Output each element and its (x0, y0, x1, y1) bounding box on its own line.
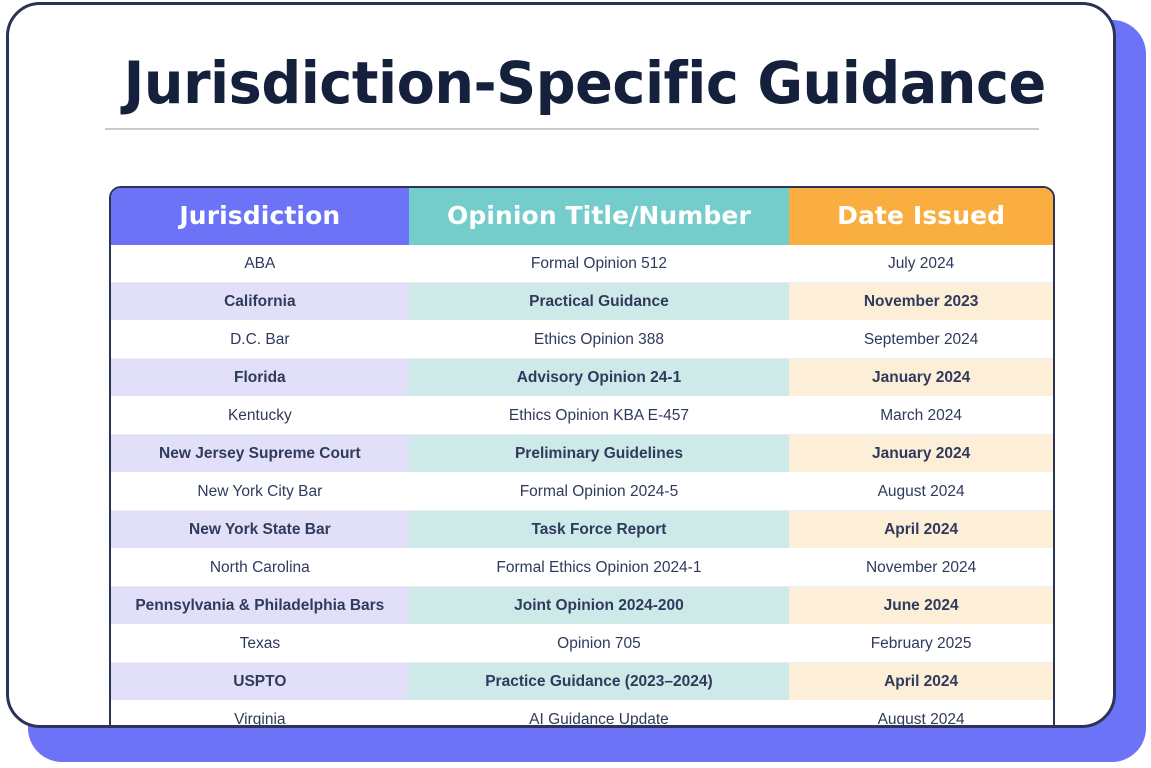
cell-opinion: Practical Guidance (409, 283, 790, 321)
cell-opinion: Formal Opinion 2024-5 (409, 473, 790, 511)
cell-jurisdiction: California (111, 283, 409, 321)
cell-jurisdiction: North Carolina (111, 549, 409, 587)
cell-opinion: Advisory Opinion 24-1 (409, 359, 790, 397)
table-row: USPTOPractice Guidance (2023–2024)April … (111, 663, 1053, 701)
table-row: VirginiaAI Guidance UpdateAugust 2024 (111, 701, 1053, 729)
cell-date: April 2024 (789, 663, 1053, 701)
table-row: New York State BarTask Force ReportApril… (111, 511, 1053, 549)
table-row: New Jersey Supreme CourtPreliminary Guid… (111, 435, 1053, 473)
cell-date: January 2024 (789, 359, 1053, 397)
cell-jurisdiction: Texas (111, 625, 409, 663)
cell-date: August 2024 (789, 701, 1053, 729)
table-header-row: Jurisdiction Opinion Title/Number Date I… (111, 188, 1053, 245)
cell-date: February 2025 (789, 625, 1053, 663)
slide-canvas: Jurisdiction-Specific Guidance Jurisdict… (0, 0, 1151, 768)
cell-jurisdiction: Pennsylvania & Philadelphia Bars (111, 587, 409, 625)
column-header-jurisdiction: Jurisdiction (111, 188, 409, 245)
cell-opinion: AI Guidance Update (409, 701, 790, 729)
cell-jurisdiction: New York State Bar (111, 511, 409, 549)
cell-jurisdiction: USPTO (111, 663, 409, 701)
title-divider (105, 128, 1039, 130)
cell-date: July 2024 (789, 245, 1053, 283)
table-row: D.C. BarEthics Opinion 388September 2024 (111, 321, 1053, 359)
table-row: TexasOpinion 705February 2025 (111, 625, 1053, 663)
cell-jurisdiction: New Jersey Supreme Court (111, 435, 409, 473)
cell-date: September 2024 (789, 321, 1053, 359)
cell-jurisdiction: New York City Bar (111, 473, 409, 511)
cell-opinion: Ethics Opinion KBA E-457 (409, 397, 790, 435)
column-header-opinion: Opinion Title/Number (409, 188, 790, 245)
cell-opinion: Task Force Report (409, 511, 790, 549)
cell-date: August 2024 (789, 473, 1053, 511)
table-row: New York City BarFormal Opinion 2024-5Au… (111, 473, 1053, 511)
content-card: Jurisdiction-Specific Guidance Jurisdict… (6, 2, 1116, 728)
cell-opinion: Practice Guidance (2023–2024) (409, 663, 790, 701)
cell-opinion: Formal Ethics Opinion 2024-1 (409, 549, 790, 587)
title-block: Jurisdiction-Specific Guidance (105, 53, 1039, 130)
guidance-table-container: Jurisdiction Opinion Title/Number Date I… (109, 186, 1055, 728)
cell-jurisdiction: Kentucky (111, 397, 409, 435)
cell-opinion: Preliminary Guidelines (409, 435, 790, 473)
table-body: ABAFormal Opinion 512July 2024California… (111, 245, 1053, 728)
cell-date: June 2024 (789, 587, 1053, 625)
column-header-date: Date Issued (789, 188, 1053, 245)
table-row: North CarolinaFormal Ethics Opinion 2024… (111, 549, 1053, 587)
cell-opinion: Opinion 705 (409, 625, 790, 663)
cell-opinion: Formal Opinion 512 (409, 245, 790, 283)
cell-jurisdiction: Florida (111, 359, 409, 397)
cell-date: January 2024 (789, 435, 1053, 473)
cell-date: November 2024 (789, 549, 1053, 587)
cell-jurisdiction: ABA (111, 245, 409, 283)
cell-opinion: Joint Opinion 2024-200 (409, 587, 790, 625)
table-row: CaliforniaPractical GuidanceNovember 202… (111, 283, 1053, 321)
cell-jurisdiction: Virginia (111, 701, 409, 729)
cell-jurisdiction: D.C. Bar (111, 321, 409, 359)
table-row: Pennsylvania & Philadelphia BarsJoint Op… (111, 587, 1053, 625)
table-row: ABAFormal Opinion 512July 2024 (111, 245, 1053, 283)
guidance-table: Jurisdiction Opinion Title/Number Date I… (111, 188, 1053, 728)
cell-date: November 2023 (789, 283, 1053, 321)
table-header: Jurisdiction Opinion Title/Number Date I… (111, 188, 1053, 245)
table-row: FloridaAdvisory Opinion 24-1January 2024 (111, 359, 1053, 397)
table-row: KentuckyEthics Opinion KBA E-457March 20… (111, 397, 1053, 435)
cell-date: April 2024 (789, 511, 1053, 549)
page-title: Jurisdiction-Specific Guidance (124, 53, 1021, 114)
cell-date: March 2024 (789, 397, 1053, 435)
cell-opinion: Ethics Opinion 388 (409, 321, 790, 359)
